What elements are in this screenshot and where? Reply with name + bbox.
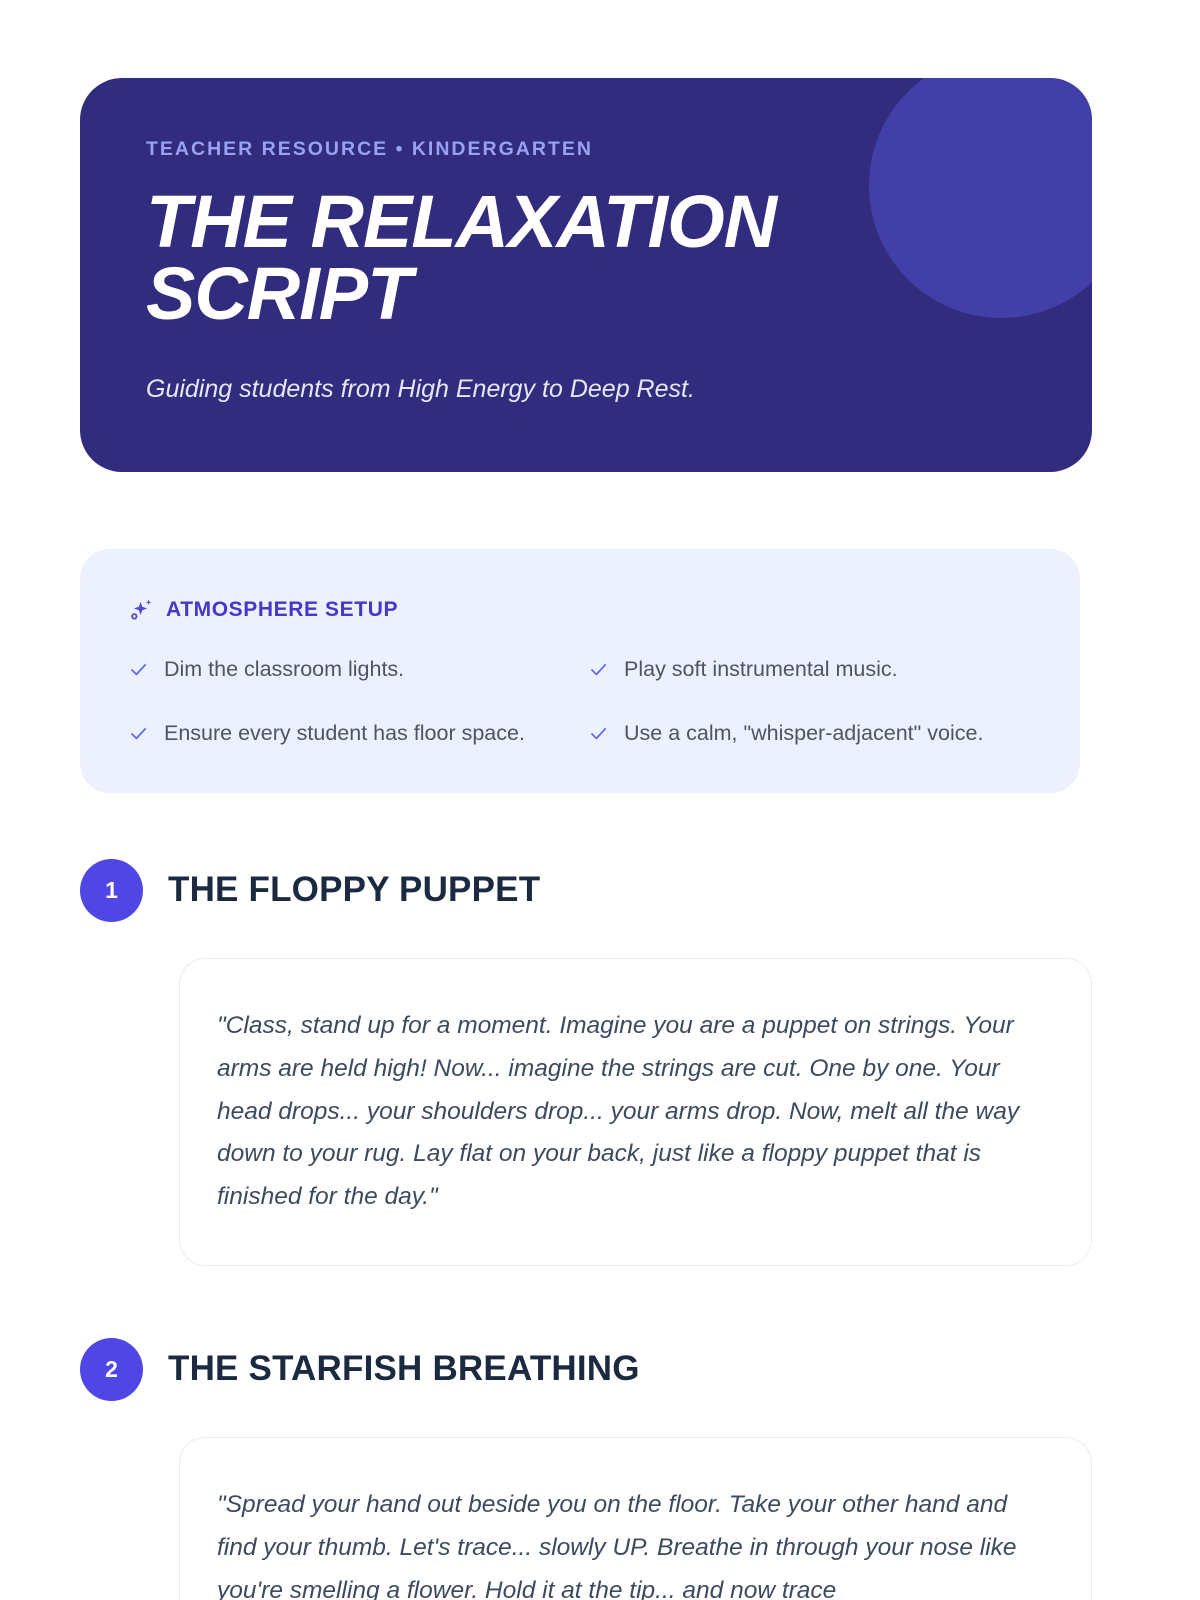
step-number-badge: 1 — [80, 859, 143, 922]
checklist-item-label: Dim the classroom lights. — [164, 656, 404, 683]
step-header: 2 THE STARFISH BREATHING — [80, 1338, 1120, 1401]
step-number-badge: 2 — [80, 1338, 143, 1401]
step-section-1: 1 THE FLOPPY PUPPET "Class, stand up for… — [80, 859, 1120, 1266]
checklist-item: Use a calm, "whisper-adjacent" voice. — [588, 720, 1032, 747]
step-title: THE STARFISH BREATHING — [168, 1351, 640, 1388]
document-page: TEACHER RESOURCE • KINDERGARTEN THE RELA… — [0, 78, 1200, 1600]
script-quote-card: "Class, stand up for a moment. Imagine y… — [179, 958, 1092, 1266]
step-section-2: 2 THE STARFISH BREATHING "Spread your ha… — [80, 1338, 1120, 1600]
hero-banner: TEACHER RESOURCE • KINDERGARTEN THE RELA… — [80, 78, 1092, 472]
step-title: THE FLOPPY PUPPET — [168, 872, 540, 909]
checklist-item: Dim the classroom lights. — [128, 656, 588, 683]
check-icon — [588, 659, 609, 680]
check-icon — [128, 659, 149, 680]
checklist-item-label: Use a calm, "whisper-adjacent" voice. — [624, 720, 983, 747]
hero-eyebrow: TEACHER RESOURCE • KINDERGARTEN — [146, 140, 1092, 160]
atmosphere-title: ATMOSPHERE SETUP — [166, 599, 398, 620]
script-quote-text: "Spread your hand out beside you on the … — [217, 1484, 1049, 1600]
atmosphere-checklist: Dim the classroom lights. Play soft inst… — [128, 656, 1032, 747]
check-icon — [128, 723, 149, 744]
checklist-item: Ensure every student has floor space. — [128, 720, 588, 747]
atmosphere-header: ATMOSPHERE SETUP — [128, 596, 1032, 623]
hero-content: TEACHER RESOURCE • KINDERGARTEN THE RELA… — [80, 78, 1092, 405]
check-icon — [588, 723, 609, 744]
script-quote-text: "Class, stand up for a moment. Imagine y… — [217, 1005, 1049, 1219]
script-quote-card: "Spread your hand out beside you on the … — [179, 1437, 1092, 1600]
step-header: 1 THE FLOPPY PUPPET — [80, 859, 1120, 922]
page-title: THE RELAXATION SCRIPT — [146, 186, 866, 331]
sparkles-icon — [128, 596, 155, 623]
checklist-item-label: Play soft instrumental music. — [624, 656, 898, 683]
checklist-item-label: Ensure every student has floor space. — [164, 720, 525, 747]
atmosphere-setup-card: ATMOSPHERE SETUP Dim the classroom light… — [80, 549, 1080, 793]
checklist-item: Play soft instrumental music. — [588, 656, 1032, 683]
hero-subtitle: Guiding students from High Energy to Dee… — [146, 373, 1092, 406]
